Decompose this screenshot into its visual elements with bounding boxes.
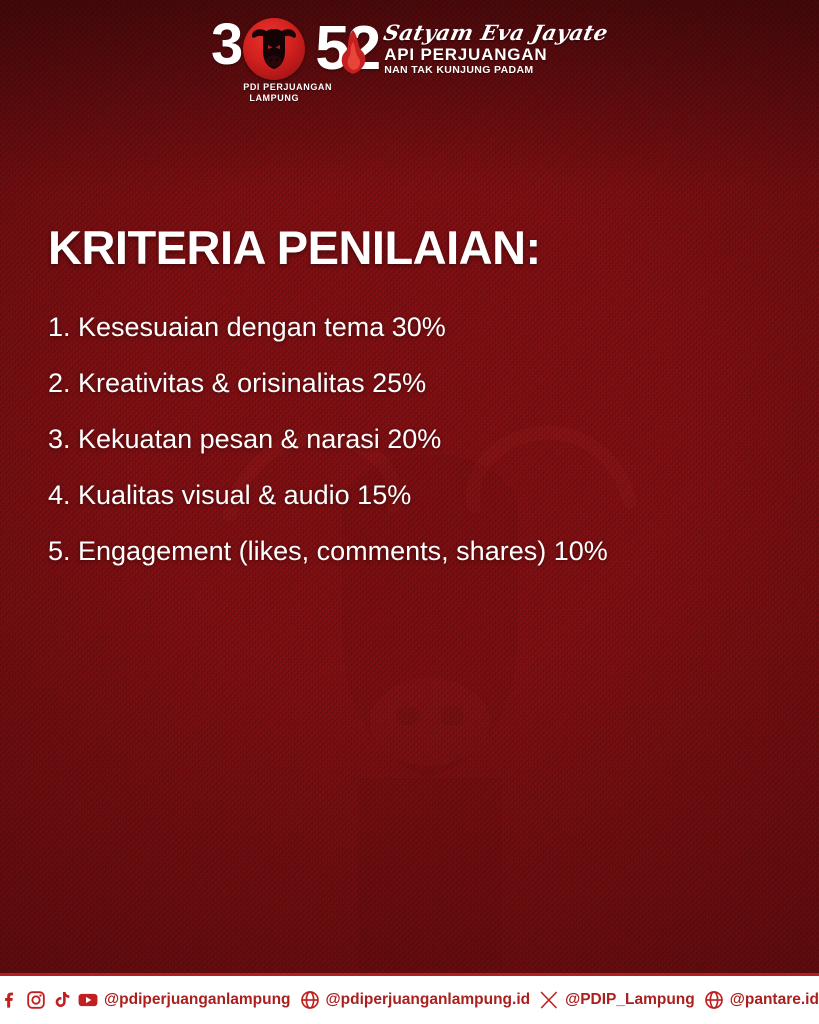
pdip-caption-line2: LAMPUNG <box>243 93 305 104</box>
list-item: 4. Kualitas visual & audio 15% <box>48 480 779 510</box>
social-group-x: @PDIP_Lampung <box>539 990 695 1010</box>
globe-icon[interactable] <box>300 990 320 1010</box>
facebook-icon[interactable] <box>0 990 20 1010</box>
social-handle[interactable]: @pdiperjuanganlampung.id <box>326 992 531 1008</box>
poster-canvas: 3 PDI PERJUANGAN LAMPUNG <box>0 0 819 1024</box>
slogan-block: Satyam Eva Jayate API PERJUANGAN NAN TAK… <box>384 20 608 77</box>
instagram-icon[interactable] <box>26 990 46 1010</box>
globe-icon[interactable] <box>704 990 724 1010</box>
bull-head-icon: PDI PERJUANGAN LAMPUNG <box>243 18 305 80</box>
youtube-icon[interactable] <box>78 990 98 1010</box>
header-logo-lockup: 3 PDI PERJUANGAN LAMPUNG <box>0 18 819 110</box>
slogan-line2: NAN TAK KUNJUNG PADAM <box>384 64 608 77</box>
x-twitter-icon[interactable] <box>539 990 559 1010</box>
list-item: 2. Kreativitas & orisinalitas 25% <box>48 368 779 398</box>
flame-icon <box>331 28 375 76</box>
social-handle[interactable]: @pdiperjuanganlampung <box>104 992 290 1008</box>
script-slogan: Satyam Eva Jayate <box>382 22 611 44</box>
social-group-main: @pdiperjuanganlampung <box>0 990 290 1010</box>
pdip-caption: PDI PERJUANGAN LAMPUNG <box>243 82 305 104</box>
milestone-mark: 52 Satyam Eva Jayate API PERJUANGAN NAN … <box>315 18 608 78</box>
social-handle[interactable]: @pantare.id <box>730 992 819 1008</box>
criteria-list: 1. Kesesuaian dengan tema 30% 2. Kreativ… <box>48 312 779 592</box>
anniversary-number: 3 <box>211 18 241 72</box>
social-group-website-1: @pdiperjuanganlampung.id <box>300 990 531 1010</box>
pdip-caption-line1: PDI PERJUANGAN <box>243 82 305 93</box>
list-item: 1. Kesesuaian dengan tema 30% <box>48 312 779 342</box>
social-handle[interactable]: @PDIP_Lampung <box>565 992 695 1008</box>
slogan-line1: API PERJUANGAN <box>384 45 608 64</box>
list-item: 5. Engagement (likes, comments, shares) … <box>48 536 779 566</box>
milestone-number-wrap: 52 <box>315 20 378 78</box>
social-group-website-2: @pantare.id <box>704 990 819 1010</box>
social-footer-bar: @pdiperjuanganlampung @pdiperjuanganlamp… <box>0 973 819 1024</box>
pdip-anniversary-mark: 3 PDI PERJUANGAN LAMPUNG <box>211 18 305 80</box>
list-item: 3. Kekuatan pesan & narasi 20% <box>48 424 779 454</box>
tiktok-icon[interactable] <box>52 990 72 1010</box>
page-title: KRITERIA PENILAIAN: <box>48 222 541 274</box>
